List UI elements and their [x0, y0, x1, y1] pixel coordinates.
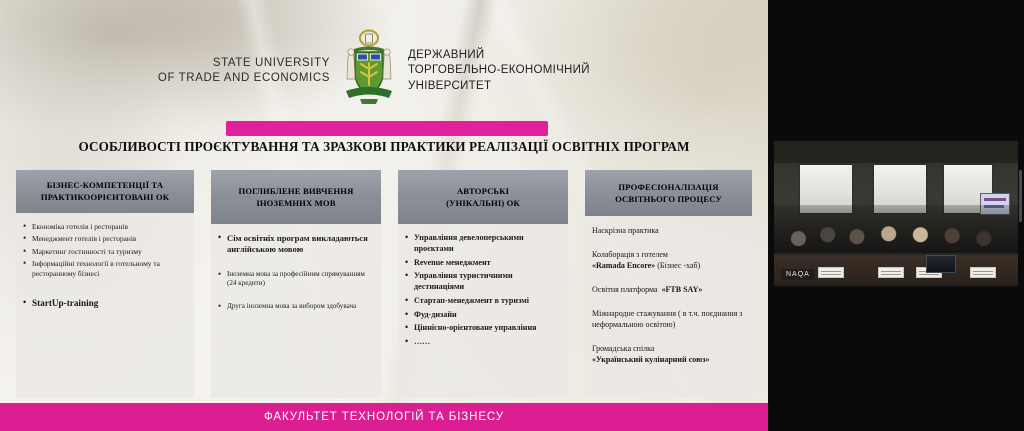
brand-english-line1: STATE UNIVERSITY — [130, 56, 330, 71]
list-item: Стартап-менеджмент в туризмі — [405, 296, 561, 307]
item-emphasis: «FTB SAY» — [662, 285, 703, 294]
item-emphasis: «Український кулінарний союз» — [592, 355, 710, 364]
column-2-primary-list: Сім освітніх програм викладаються англій… — [218, 233, 374, 256]
slide-footer-text: ФАКУЛЬТЕТ ТЕХНОЛОГІЙ ТА БІЗНЕСУ — [264, 411, 504, 423]
column-1-list: Економіка готелів і ресторанів Менеджмен… — [23, 222, 187, 279]
column-3-list: Управління девелоперськими проєктами Rev… — [405, 233, 561, 348]
participant-video-panel[interactable]: NAQA — [768, 0, 1024, 431]
column-4-header-line2: ОСВІТНЬОГО ПРОЦЕСУ — [591, 193, 746, 205]
column-2-list: Іноземна мова за професійним спрямування… — [218, 270, 374, 311]
column-4-header: ПРОФЕСІОНАЛІЗАЦІЯ ОСВІТНЬОГО ПРОЦЕСУ — [585, 170, 752, 216]
column-4-body: Наскрізна практика Колаборація з готелем… — [585, 216, 752, 384]
item-emphasis: «Ramada Encore» — [592, 261, 655, 270]
column-business-competencies: БІЗНЕС-КОМПЕТЕНЦІЇ ТА ПРАКТИКООРІЄНТОВАН… — [16, 170, 194, 398]
list-item: Ціннісно-орієнтоване управління — [405, 323, 561, 334]
column-4-header-line1: ПРОФЕСІОНАЛІЗАЦІЯ — [591, 181, 746, 193]
item-text: Освітня платформа — [592, 285, 658, 294]
list-item: Міжнародне стажування ( в т.ч. поєднання… — [592, 308, 745, 330]
column-foreign-languages: ПОГЛИБЛЕНЕ ВИВЧЕННЯ ІНОЗЕМНИХ МОВ Сім ос… — [211, 170, 381, 398]
brand-ukrainian-line1: ДЕРЖАВНИЙ — [408, 48, 638, 63]
column-unique-courses: АВТОРСЬКІ (УНІКАЛЬНІ) ОК Управління деве… — [398, 170, 568, 398]
column-1-header-line1: БІЗНЕС-КОМПЕТЕНЦІЇ ТА — [22, 179, 188, 191]
column-3-header: АВТОРСЬКІ (УНІКАЛЬНІ) ОК — [398, 170, 568, 224]
list-item: Менеджмент готелів і ресторанів — [23, 234, 187, 244]
seated-attendees — [774, 205, 1018, 253]
column-professionalization: ПРОФЕСІОНАЛІЗАЦІЯ ОСВІТНЬОГО ПРОЦЕСУ Нас… — [585, 170, 752, 398]
column-1-highlight: StartUp-training — [23, 298, 187, 308]
brand-ukrainian-line3: УНІВЕРСИТЕТ — [408, 79, 638, 94]
column-3-header-line2: (УНІКАЛЬНІ) ОК — [404, 197, 562, 209]
meeting-room-video — [774, 141, 1018, 287]
list-item: Управління девелоперськими проєктами — [405, 233, 561, 255]
column-2-header-line1: ПОГЛИБЛЕНЕ ВИВЧЕННЯ — [217, 185, 375, 197]
name-placard — [970, 267, 996, 278]
list-item: Друга іноземна мова за вибором здобувача — [218, 302, 374, 311]
list-item: Освітня платформа «FTB SAY» — [592, 284, 745, 295]
content-columns: БІЗНЕС-КОМПЕТЕНЦІЇ ТА ПРАКТИКООРІЄНТОВАН… — [0, 170, 768, 398]
list-item: Іноземна мова за професійним спрямування… — [218, 270, 374, 289]
name-placard — [818, 267, 844, 278]
list-item: Інформаційні технології в готельному та … — [23, 259, 187, 279]
slide-footer: ФАКУЛЬТЕТ ТЕХНОЛОГІЙ ТА БІЗНЕСУ — [0, 403, 768, 431]
column-2-header: ПОГЛИБЛЕНЕ ВИВЧЕННЯ ІНОЗЕМНИХ МОВ — [211, 170, 381, 224]
slide-title: ОСОБЛИВОСТІ ПРОЄКТУВАННЯ ТА ЗРАЗКОВІ ПРА… — [0, 139, 768, 155]
brand-english-line2: OF TRADE AND ECONOMICS — [130, 71, 330, 86]
list-item: Сім освітніх програм викладаються англій… — [218, 233, 374, 256]
list-item: Фуд-дизайн — [405, 310, 561, 321]
naqa-watermark: NAQA — [781, 269, 815, 280]
column-1-body: Економіка готелів і ресторанів Менеджмен… — [16, 213, 194, 314]
presentation-slide[interactable]: STATE UNIVERSITY OF TRADE AND ECONOMICS — [0, 0, 768, 431]
column-2-body: Сім освітніх програм викладаються англій… — [211, 224, 381, 330]
item-tail: (Бізнес -хаб) — [655, 261, 700, 270]
list-item: Управління туристичними дестинаціями — [405, 271, 561, 293]
list-item: Колаборація з готелем «Ramada Encore» (Б… — [592, 249, 745, 271]
list-item: Економіка готелів і ресторанів — [23, 222, 187, 232]
university-crest-icon — [340, 29, 398, 113]
column-1-header-line2: ПРАКТИКООРІЄНТОВАНІ ОК — [22, 191, 188, 203]
item-text: Міжнародне стажування ( в т.ч. поєднання… — [592, 309, 742, 329]
column-1-header: БІЗНЕС-КОМПЕТЕНЦІЇ ТА ПРАКТИКООРІЄНТОВАН… — [16, 170, 194, 213]
column-3-header-line1: АВТОРСЬКІ — [404, 185, 562, 197]
brand-ukrainian-line2: ТОРГОВЕЛЬНО-ЕКОНОМІЧНИЙ — [408, 63, 638, 78]
brand-english-name: STATE UNIVERSITY OF TRADE AND ECONOMICS — [130, 56, 330, 86]
column-2-header-line2: ІНОЗЕМНИХ МОВ — [217, 197, 375, 209]
list-item: Громадська спілка «Український кулінарни… — [592, 343, 745, 365]
item-text: Громадська спілка — [592, 344, 654, 353]
column-3-body: Управління девелоперськими проєктами Rev… — [398, 224, 568, 357]
list-item: …… — [405, 337, 561, 348]
laptop — [926, 255, 956, 273]
brand-ukrainian-name: ДЕРЖАВНИЙ ТОРГОВЕЛЬНО-ЕКОНОМІЧНИЙ УНІВЕР… — [408, 48, 638, 94]
item-text: Колаборація з готелем — [592, 250, 668, 259]
list-item: Маркетинг гостинності та туризму — [23, 247, 187, 257]
slide-brand-header: STATE UNIVERSITY OF TRADE AND ECONOMICS — [0, 26, 768, 116]
video-tile[interactable]: NAQA — [774, 141, 1018, 287]
name-placard — [878, 267, 904, 278]
list-item: Revenue менеджмент — [405, 258, 561, 269]
ceiling-strip — [774, 141, 1018, 163]
video-panel-scrollbar[interactable] — [1019, 170, 1022, 222]
screen-share-window: STATE UNIVERSITY OF TRADE AND ECONOMICS — [0, 0, 1024, 431]
title-accent-bar — [226, 121, 548, 136]
item-text: Наскрізна практика — [592, 226, 659, 235]
list-item: Наскрізна практика — [592, 225, 745, 236]
